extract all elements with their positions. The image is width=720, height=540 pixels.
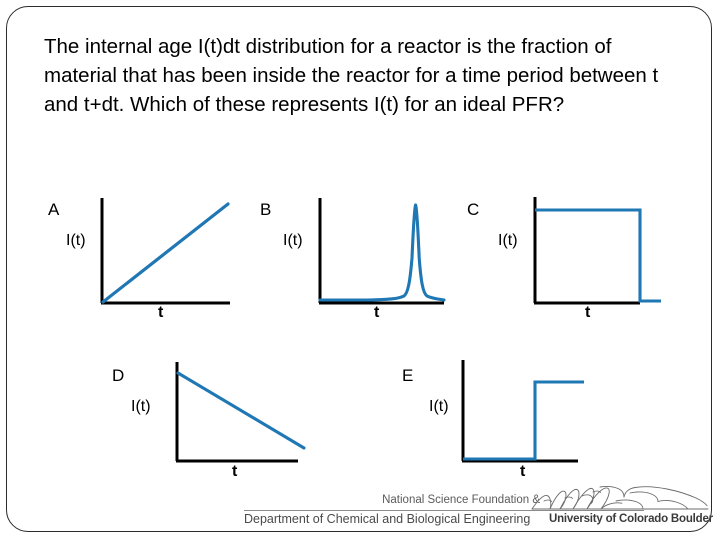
question-text: The internal age I(t)dt distribution for… bbox=[44, 32, 684, 119]
option-b-curve bbox=[320, 205, 444, 300]
option-a[interactable]: A I(t) t bbox=[46, 196, 261, 321]
option-e[interactable]: E I(t) t bbox=[398, 358, 613, 483]
option-d-curve bbox=[178, 373, 304, 448]
option-c-plot bbox=[465, 196, 690, 321]
footer-university-text: University of Colorado Boulder bbox=[549, 513, 713, 525]
option-e-curve bbox=[463, 382, 584, 459]
option-c-curve bbox=[535, 210, 661, 301]
option-b-plot bbox=[258, 196, 473, 321]
option-d[interactable]: D I(t) t bbox=[110, 358, 325, 483]
option-e-plot bbox=[398, 358, 613, 483]
option-d-plot bbox=[110, 358, 325, 483]
option-c[interactable]: C I(t) t bbox=[465, 196, 690, 321]
footer-nsf-text: National Science Foundation & bbox=[382, 494, 540, 506]
footer-department-text: Department of Chemical and Biological En… bbox=[244, 512, 530, 526]
slide-canvas: The internal age I(t)dt distribution for… bbox=[0, 0, 720, 540]
option-a-curve bbox=[103, 204, 228, 302]
option-a-plot bbox=[46, 196, 261, 321]
option-b[interactable]: B I(t) t bbox=[258, 196, 473, 321]
footer: National Science Foundation & Department… bbox=[244, 494, 664, 538]
